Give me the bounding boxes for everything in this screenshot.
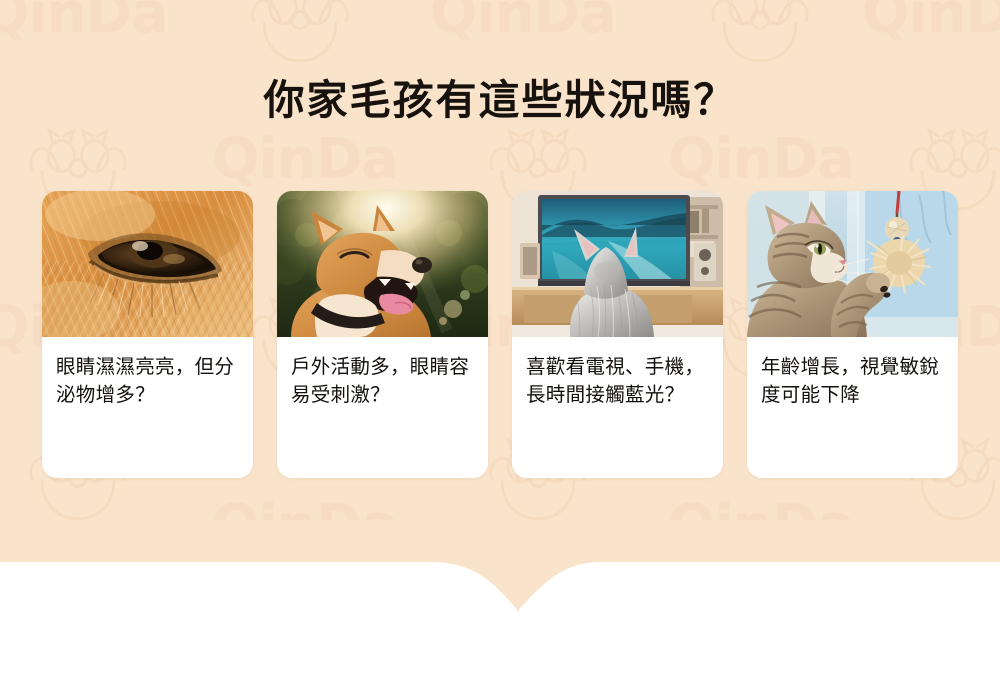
shiba-inu-outdoors-photo: [277, 191, 488, 337]
card-caption: 喜歡看電視、手機，長時間接觸藍光？: [512, 337, 723, 478]
cat-watching-tv-photo: [512, 191, 723, 337]
watermark-wordmark: QinDa: [862, 0, 1000, 42]
watermark-wordmark: QinDa: [430, 0, 616, 42]
page-title: 你家毛孩有這些狀況嗎？: [0, 66, 1000, 126]
poster-canvas: QinDa QinDa: [0, 0, 1000, 676]
card-caption: 戶外活動多，眼睛容易受刺激？: [277, 337, 488, 478]
watermark-wordmark: QinDa: [212, 132, 398, 188]
condition-card[interactable]: 戶外活動多，眼睛容易受刺激？: [277, 191, 488, 478]
watermark-wordmark: QinDa: [668, 498, 854, 554]
condition-card[interactable]: 眼睛濕濕亮亮，但分泌物增多？: [42, 191, 253, 478]
watermark-wordmark: QinDa: [212, 498, 398, 554]
condition-card[interactable]: 年齡增長，視覺敏銳度可能下降: [747, 191, 958, 478]
condition-card-list: 眼睛濕濕亮亮，但分泌物增多？: [42, 191, 960, 478]
watermark-wordmark: QinDa: [0, 0, 168, 42]
card-caption: 年齡增長，視覺敏銳度可能下降: [747, 337, 958, 478]
watermark-wordmark: QinDa: [668, 132, 854, 188]
dog-eye-closeup-photo: [42, 191, 253, 337]
condition-card[interactable]: 喜歡看電視、手機，長時間接觸藍光？: [512, 191, 723, 478]
card-caption: 眼睛濕濕亮亮，但分泌物增多？: [42, 337, 253, 478]
cat-playing-with-toy-photo: [747, 191, 958, 337]
